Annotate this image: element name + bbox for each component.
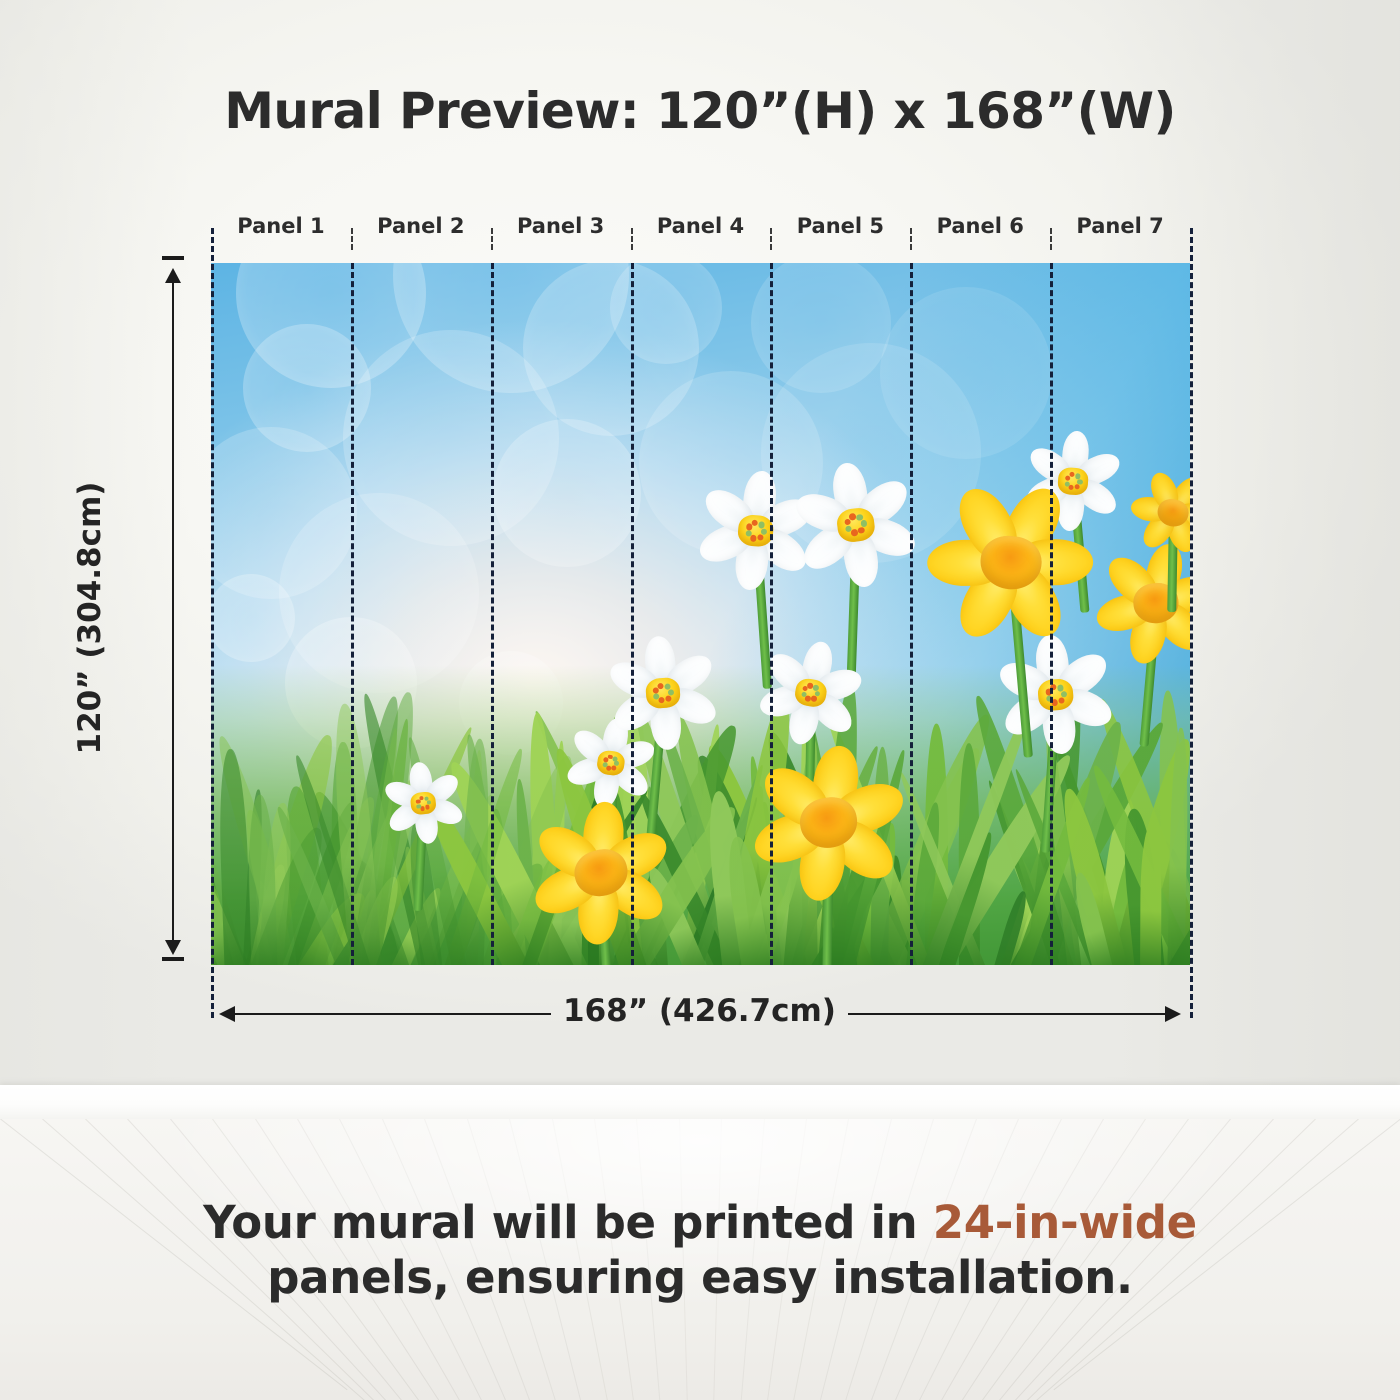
- flower-stamen: [424, 804, 429, 809]
- panel-divider-5: [910, 263, 913, 965]
- height-tick-top: [162, 256, 184, 260]
- panel-divider-3: [631, 263, 634, 965]
- caption-line1-text: Your mural will be printed in: [203, 1196, 933, 1249]
- narcissus-flower: [603, 633, 723, 753]
- flower-stamen: [1064, 481, 1070, 487]
- flower-corona: [645, 677, 681, 709]
- mural-preview-page: Mural Preview: 120”(H) x 168”(W) Panel 1…: [0, 0, 1400, 1400]
- width-arrowhead-right-icon: [1165, 1006, 1181, 1022]
- panel-label-tick: [491, 228, 493, 250]
- flower-stamen: [1075, 473, 1081, 479]
- flower-stamen: [416, 803, 421, 808]
- caption-accent-text: 24-in-wide: [933, 1196, 1197, 1249]
- height-arrowhead-up-icon: [165, 268, 181, 283]
- width-dimension-label: 168” (426.7cm): [551, 993, 848, 1029]
- panel-divider-6: [1050, 263, 1053, 965]
- panel-label-7: Panel 7: [1050, 214, 1190, 248]
- panel-label-4: Panel 4: [631, 214, 771, 248]
- panel-label-tick: [910, 228, 912, 250]
- mural-edge-right: [1190, 228, 1193, 1018]
- flower-corona: [737, 514, 775, 548]
- panel-label-row: Panel 1Panel 2Panel 3Panel 4Panel 5Panel…: [211, 214, 1190, 248]
- narcissus-flower: [379, 759, 468, 848]
- flower-stamen: [419, 796, 424, 801]
- panel-label-tick: [770, 228, 772, 250]
- caption-line-1: Your mural will be printed in 24-in-wide: [0, 1196, 1400, 1251]
- caption-line-2: panels, ensuring easy installation.: [0, 1251, 1400, 1306]
- panel-label-2: Panel 2: [351, 214, 491, 248]
- panel-divider-2: [491, 263, 494, 965]
- width-arrow-line-right: [848, 1013, 1165, 1015]
- narcissus-flower: [787, 456, 924, 593]
- width-arrowhead-left-icon: [219, 1006, 235, 1022]
- height-arrow-line: [172, 272, 174, 952]
- narcissus-flower: [992, 631, 1119, 758]
- narcissus-flower: [751, 633, 870, 752]
- width-arrow-line-left: [234, 1013, 551, 1015]
- panel-label-5: Panel 5: [770, 214, 910, 248]
- panel-label-6: Panel 6: [910, 214, 1050, 248]
- panel-divider-1: [351, 263, 354, 965]
- height-dimension-label: 120” (304.8cm): [72, 408, 108, 828]
- footer-caption: Your mural will be printed in 24-in-wide…: [0, 1196, 1400, 1306]
- panel-label-3: Panel 3: [491, 214, 631, 248]
- baseboard: [0, 1085, 1400, 1121]
- page-title: Mural Preview: 120”(H) x 168”(W): [0, 82, 1400, 140]
- daffodil-flower: [922, 474, 1099, 651]
- flower-stamen: [665, 695, 671, 701]
- panel-label-tick: [631, 228, 633, 250]
- panel-label-1: Panel 1: [211, 214, 351, 248]
- panel-label-tick: [1050, 228, 1052, 250]
- daffodil-flower: [741, 735, 917, 911]
- height-arrowhead-down-icon: [165, 940, 181, 955]
- panel-divider-4: [770, 263, 773, 965]
- height-tick-bottom: [162, 957, 184, 961]
- panel-label-tick: [351, 228, 353, 250]
- flower-corona: [1037, 678, 1075, 712]
- flower-stamen: [424, 796, 429, 801]
- mural-artwork: [211, 263, 1190, 965]
- flower-corona: [410, 791, 437, 815]
- mural-edge-left: [211, 228, 214, 1018]
